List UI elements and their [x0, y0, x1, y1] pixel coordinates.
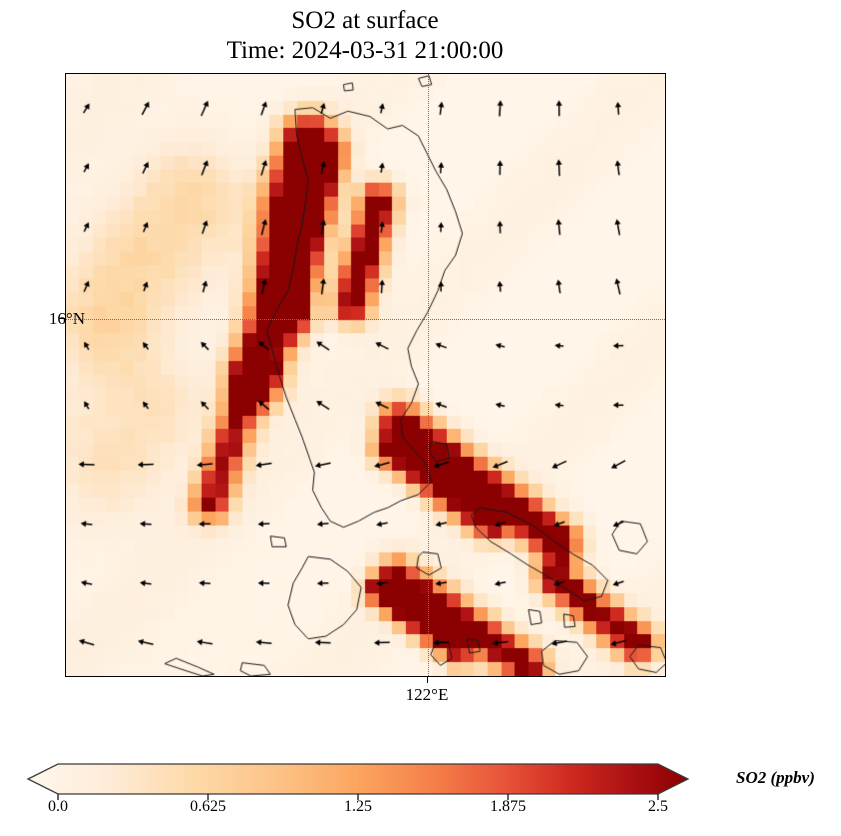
colorbar-axis-label: SO2 (ppbv)	[736, 768, 815, 788]
colorbar-tick-2.5: 2.5	[648, 798, 668, 816]
colorbar-tick-1.875: 1.875	[490, 798, 526, 816]
xtick-mark-122e	[427, 677, 428, 683]
title-line-variable: SO2 at surface	[0, 6, 730, 36]
colorbar-tick-0.625: 0.625	[190, 798, 226, 816]
colorbar[interactable]: SO2 (ppbv) 0.00.6251.251.8752.5	[0, 756, 841, 836]
xtick-label-122e: 122°E	[406, 685, 449, 705]
title-line-time: Time: 2024-03-31 21:00:00	[0, 36, 730, 66]
ytick-label-16n: 16°N	[49, 309, 85, 329]
colorbar-tick-0.0: 0.0	[48, 798, 68, 816]
so2-heatmap-canvas	[66, 74, 665, 676]
map-plot-area[interactable]	[65, 73, 666, 677]
figure-title: SO2 at surface Time: 2024-03-31 21:00:00	[0, 6, 730, 65]
colorbar-tick-1.25: 1.25	[344, 798, 372, 816]
